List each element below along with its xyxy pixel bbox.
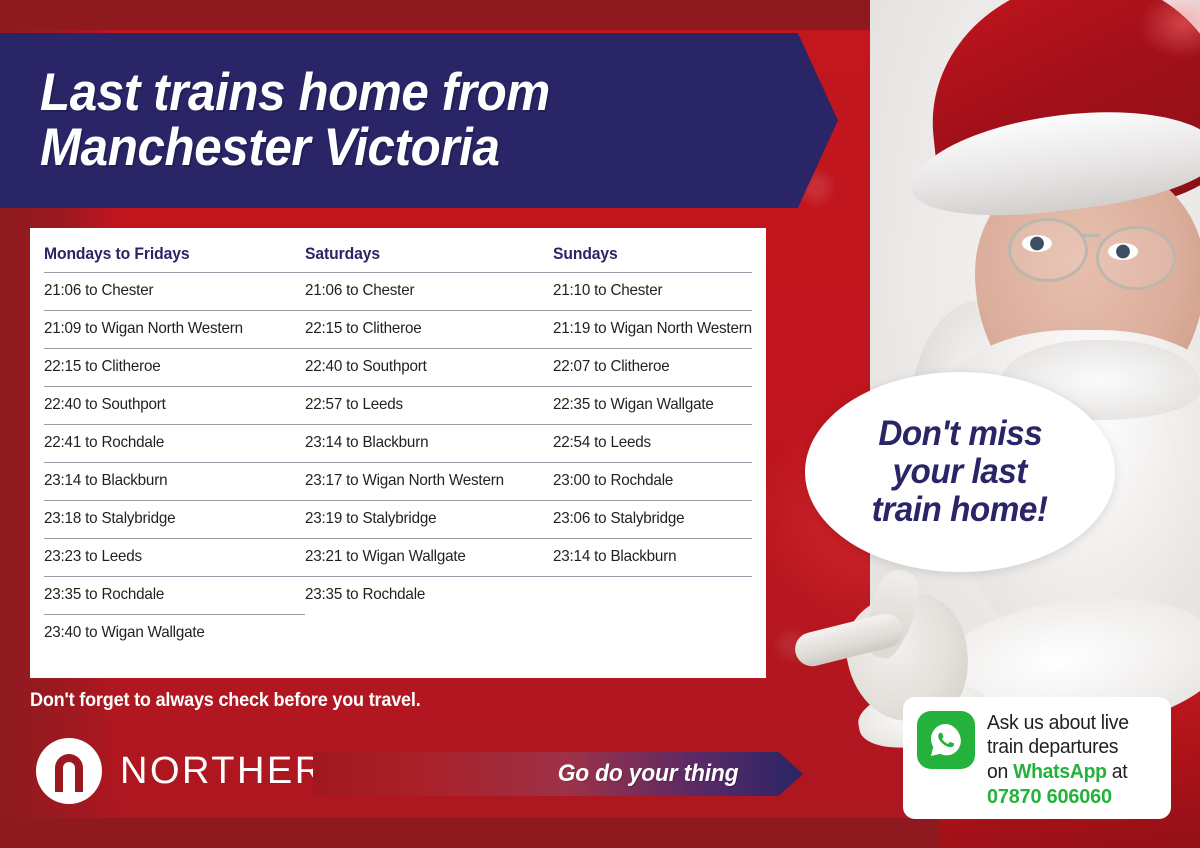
page-title-line-1: Last trains home from xyxy=(40,66,782,120)
arch-shape xyxy=(55,754,83,792)
table-cell: 23:14 to Blackburn xyxy=(44,463,292,501)
table-cell: 23:18 to Stalybridge xyxy=(44,501,292,539)
table-row: 23:40 to Wigan Wallgate xyxy=(44,615,752,653)
table-cell: 21:10 to Chester xyxy=(553,273,742,311)
whatsapp-text: Ask us about live train departures on Wh… xyxy=(987,711,1129,809)
northern-logo: NORTHERN xyxy=(36,738,355,804)
timetable-card: Mondays to Fridays Saturdays Sundays 21:… xyxy=(30,228,766,678)
table-row: 22:41 to Rochdale23:14 to Blackburn22:54… xyxy=(44,425,752,463)
table-cell: 23:00 to Rochdale xyxy=(553,463,742,501)
santa-glasses-icon xyxy=(1000,218,1200,280)
table-cell: 22:15 to Clitheroe xyxy=(305,311,541,349)
whatsapp-line-3-post: at xyxy=(1107,761,1128,783)
table-cell: 22:40 to Southport xyxy=(305,349,541,387)
table-cell xyxy=(553,577,742,615)
bubble-line-3: train home! xyxy=(872,491,1048,529)
whatsapp-card[interactable]: Ask us about live train departures on Wh… xyxy=(903,697,1171,819)
whatsapp-line-3-pre: on xyxy=(987,761,1013,783)
table-cell xyxy=(305,615,541,653)
table-cell: 22:35 to Wigan Wallgate xyxy=(553,387,742,425)
timetable: Mondays to Fridays Saturdays Sundays 21:… xyxy=(44,242,752,652)
poster: Last trains home from Manchester Victori… xyxy=(0,0,1200,848)
whatsapp-line-2: train departures xyxy=(987,736,1118,758)
table-cell: 23:21 to Wigan Wallgate xyxy=(305,539,541,577)
table-cell: 22:54 to Leeds xyxy=(553,425,742,463)
glasses-bridge xyxy=(1080,234,1100,237)
whatsapp-brand: WhatsApp xyxy=(1013,761,1107,783)
table-cell: 22:15 to Clitheroe xyxy=(44,349,292,387)
table-cell: 23:14 to Blackburn xyxy=(553,539,742,577)
column-header-saturdays: Saturdays xyxy=(305,242,541,273)
timetable-body: 21:06 to Chester21:06 to Chester21:10 to… xyxy=(44,273,752,653)
table-cell: 21:19 to Wigan North Western xyxy=(553,311,742,349)
column-header-weekdays: Mondays to Fridays xyxy=(44,242,292,273)
whatsapp-icon xyxy=(917,711,975,769)
table-cell: 23:06 to Stalybridge xyxy=(553,501,742,539)
glasses-lens-left xyxy=(1008,218,1088,282)
table-cell: 23:19 to Stalybridge xyxy=(305,501,541,539)
table-cell: 22:41 to Rochdale xyxy=(44,425,292,463)
table-row: 23:18 to Stalybridge23:19 to Stalybridge… xyxy=(44,501,752,539)
bubble-line-2: your last xyxy=(893,453,1027,491)
whatsapp-number[interactable]: 07870 606060 xyxy=(987,784,1129,809)
tagline-banner: Go do your thing xyxy=(313,752,803,796)
table-cell: 23:17 to Wigan North Western xyxy=(305,463,541,501)
page-title-line-2: Manchester Victoria xyxy=(40,121,782,175)
whatsapp-line-1: Ask us about live xyxy=(987,712,1129,734)
table-cell: 22:40 to Southport xyxy=(44,387,292,425)
table-row: 23:35 to Rochdale23:35 to Rochdale xyxy=(44,577,752,615)
glasses-lens-right xyxy=(1096,226,1176,290)
table-cell: 21:06 to Chester xyxy=(305,273,541,311)
title-banner: Last trains home from Manchester Victori… xyxy=(0,33,838,208)
table-cell xyxy=(553,615,742,653)
table-cell: 22:07 to Clitheroe xyxy=(553,349,742,387)
northern-arch-icon xyxy=(36,738,102,804)
santa-hat-shine xyxy=(1135,0,1200,63)
tagline-text: Go do your thing xyxy=(558,760,739,788)
table-cell: 23:35 to Rochdale xyxy=(305,577,541,615)
table-row: 21:06 to Chester21:06 to Chester21:10 to… xyxy=(44,273,752,311)
table-cell: 22:57 to Leeds xyxy=(305,387,541,425)
timetable-head: Mondays to Fridays Saturdays Sundays xyxy=(44,242,752,273)
table-cell: 23:35 to Rochdale xyxy=(44,577,292,615)
table-row: 22:40 to Southport22:57 to Leeds22:35 to… xyxy=(44,387,752,425)
table-cell: 21:09 to Wigan North Western xyxy=(44,311,292,349)
table-cell: 21:06 to Chester xyxy=(44,273,292,311)
table-row: 23:23 to Leeds23:21 to Wigan Wallgate23:… xyxy=(44,539,752,577)
table-row: 21:09 to Wigan North Western22:15 to Cli… xyxy=(44,311,752,349)
column-header-sundays: Sundays xyxy=(553,242,742,273)
table-cell: 23:40 to Wigan Wallgate xyxy=(44,615,292,653)
bubble-line-1: Don't miss xyxy=(878,415,1042,453)
table-row: 22:15 to Clitheroe22:40 to Southport22:0… xyxy=(44,349,752,387)
table-row: 23:14 to Blackburn23:17 to Wigan North W… xyxy=(44,463,752,501)
table-cell: 23:23 to Leeds xyxy=(44,539,292,577)
travel-check-footnote: Don't forget to always check before you … xyxy=(30,690,421,712)
table-cell: 23:14 to Blackburn xyxy=(305,425,541,463)
timetable-header-row: Mondays to Fridays Saturdays Sundays xyxy=(44,242,752,273)
speech-bubble: Don't miss your last train home! xyxy=(805,372,1115,572)
